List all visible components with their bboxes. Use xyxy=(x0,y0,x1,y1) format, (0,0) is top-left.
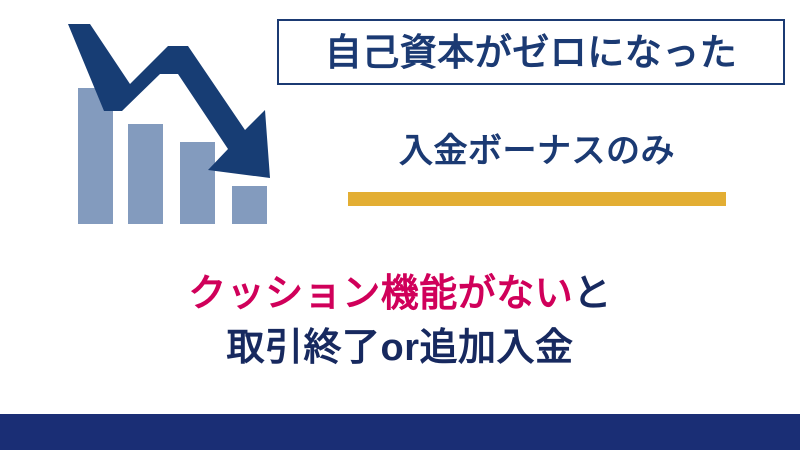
subheading-block: 入金ボーナスのみ xyxy=(348,133,726,207)
message-line-2: 取引終了or追加入金 xyxy=(0,322,800,376)
message-line-1-accent: クッション機能がない xyxy=(188,273,573,315)
headline-box: 自己資本がゼロになった xyxy=(277,19,785,85)
slide-canvas: 自己資本がゼロになった 入金ボーナスのみ クッション機能がないと 取引終了or追… xyxy=(0,0,800,450)
message-line-1-tail: と xyxy=(573,273,612,315)
message-block: クッション機能がないと 取引終了or追加入金 xyxy=(0,268,800,376)
footer-band xyxy=(0,414,800,450)
message-line-1: クッション機能がないと xyxy=(0,268,800,322)
headline-text: 自己資本がゼロになった xyxy=(325,34,738,71)
subheading-text: 入金ボーナスのみ xyxy=(348,133,726,170)
subheading-underline-bar xyxy=(348,192,726,206)
declining-bar-chart-icon xyxy=(60,18,285,230)
